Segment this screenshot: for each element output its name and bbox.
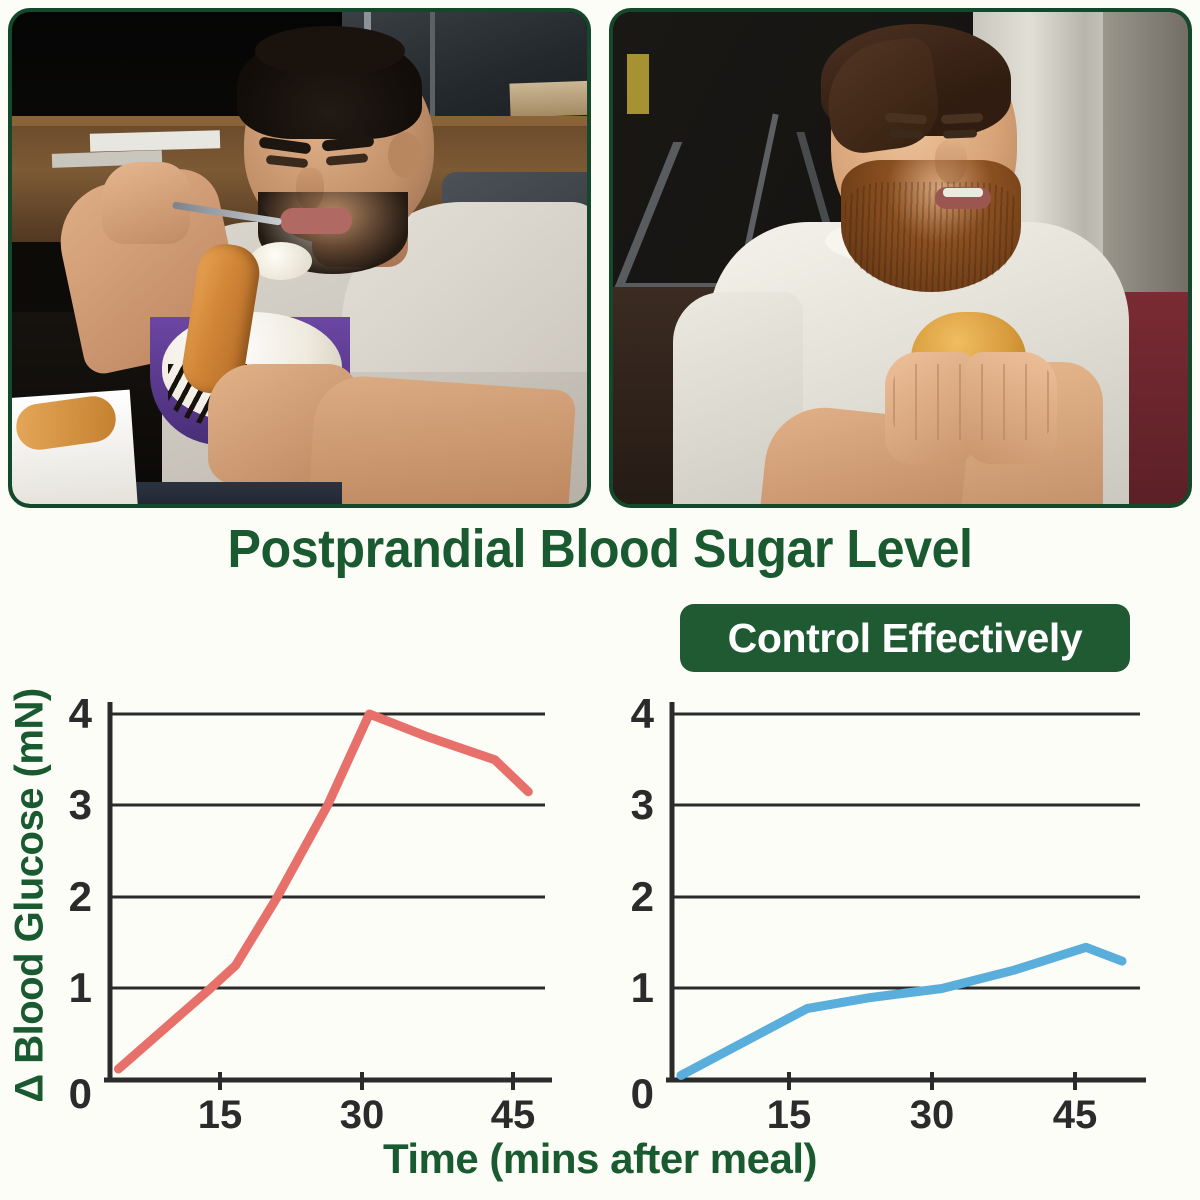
x-tick-45-left: 45 (491, 1093, 536, 1137)
x-tick-15-right: 15 (767, 1093, 812, 1137)
x-tick-30-left: 30 (340, 1093, 385, 1137)
y-tick-2-left: 2 (69, 873, 92, 920)
photo-left-canvas (12, 12, 587, 504)
y-tick-4-left: 4 (69, 690, 93, 737)
photo-row (8, 8, 1192, 508)
y-tick-2-right: 2 (631, 873, 654, 920)
photo-burger-eater (609, 8, 1192, 508)
page-title: Postprandial Blood Sugar Level (42, 518, 1158, 580)
y-tick-3-left: 3 (69, 781, 92, 828)
x-tick-30-right: 30 (910, 1093, 955, 1137)
chart-controlled: 4 3 2 1 0 15 30 45 (612, 680, 1200, 1140)
y-tick-1-right: 1 (631, 964, 654, 1011)
y-tick-4-right: 4 (631, 690, 655, 737)
y-tick-0-right: 0 (631, 1070, 654, 1117)
infographic-page: Postprandial Blood Sugar Level Control E… (0, 0, 1200, 1200)
x-axis-label: Time (mins after meal) (0, 1135, 1200, 1183)
x-tick-15-left: 15 (198, 1093, 243, 1137)
photo-untreated-eater (8, 8, 591, 508)
gridlines-right (672, 714, 1140, 988)
chart-untreated-svg: 4 3 2 1 0 15 30 45 (0, 680, 600, 1140)
chart-untreated: 4 3 2 1 0 15 30 45 (0, 680, 600, 1140)
y-tick-3-right: 3 (631, 781, 654, 828)
photo-right-canvas (613, 12, 1188, 504)
series-line-untreated (118, 714, 528, 1069)
series-line-controlled (681, 947, 1122, 1075)
chart-controlled-svg: 4 3 2 1 0 15 30 45 (612, 680, 1200, 1140)
x-tick-45-right: 45 (1053, 1093, 1098, 1137)
control-effectively-badge: Control Effectively (680, 604, 1130, 672)
y-tick-1-left: 1 (69, 964, 92, 1011)
y-tick-0-left: 0 (69, 1070, 92, 1117)
badge-label: Control Effectively (728, 615, 1083, 662)
